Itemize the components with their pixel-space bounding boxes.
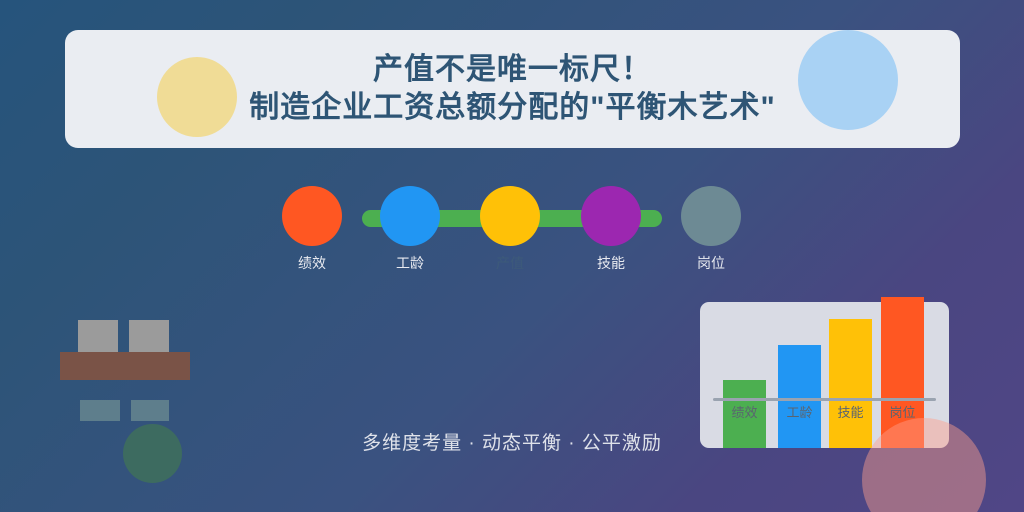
- factor-label-position: 岗位: [663, 253, 759, 273]
- chart-baseline: [713, 398, 936, 401]
- deco-block-teal-left: [80, 400, 120, 421]
- deco-block-gray-left: [78, 320, 118, 352]
- title-text-block: 产值不是唯一标尺！ 制造企业工资总额分配的"平衡木艺术": [65, 30, 960, 148]
- factor-label-output: 产值: [462, 253, 558, 273]
- page-title-line-1: 产值不是唯一标尺！: [373, 53, 652, 88]
- poster-canvas: 产值不是唯一标尺！ 制造企业工资总额分配的"平衡木艺术" 绩效 工龄 产值 技能…: [0, 0, 1024, 512]
- factor-label-skill: 技能: [563, 253, 659, 273]
- factor-dot-seniority: [380, 186, 440, 246]
- factor-item-seniority[interactable]: 工龄: [362, 186, 458, 273]
- deco-balance-beam: [60, 352, 190, 380]
- factor-row: 绩效 工龄 产值 技能 岗位: [275, 186, 755, 281]
- factor-label-seniority: 工龄: [362, 253, 458, 273]
- factor-dot-performance: [282, 186, 342, 246]
- factor-dot-position: [681, 186, 741, 246]
- bar-label-performance: 绩效: [723, 402, 766, 421]
- factor-label-performance: 绩效: [264, 253, 360, 273]
- bar-label-skill: 技能: [829, 402, 872, 421]
- factor-item-position[interactable]: 岗位: [663, 186, 759, 273]
- factor-item-skill[interactable]: 技能: [563, 186, 659, 273]
- deco-block-teal-right: [131, 400, 169, 421]
- factor-dot-skill: [581, 186, 641, 246]
- deco-block-gray-right: [129, 320, 169, 352]
- tagline: 多维度考量 · 动态平衡 · 公平激励: [0, 428, 1024, 455]
- page-title-line-2: 制造企业工资总额分配的"平衡木艺术": [249, 91, 775, 126]
- factor-item-performance[interactable]: 绩效: [264, 186, 360, 273]
- factor-dot-output: [480, 186, 540, 246]
- factor-item-output[interactable]: 产值: [462, 186, 558, 273]
- title-card: 产值不是唯一标尺！ 制造企业工资总额分配的"平衡木艺术": [65, 30, 960, 148]
- bar-label-seniority: 工龄: [778, 402, 821, 421]
